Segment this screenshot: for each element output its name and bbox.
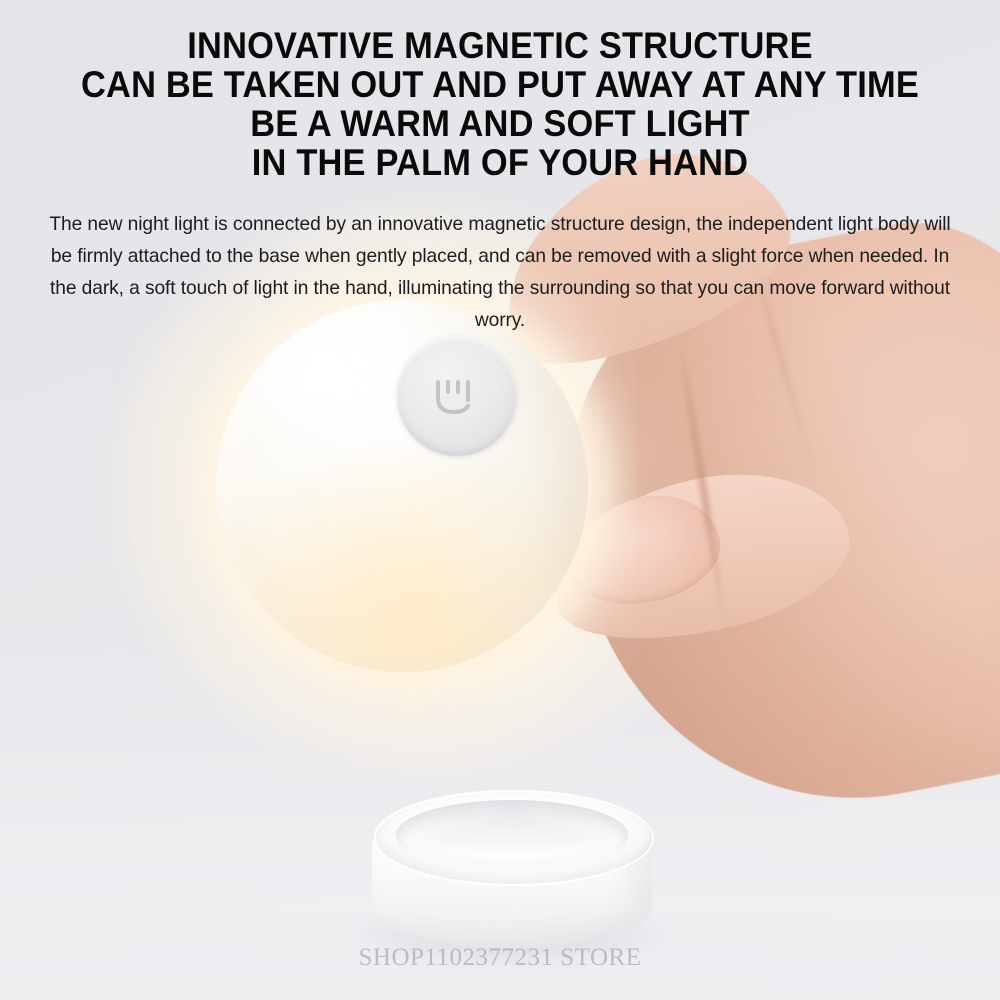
headline-line-4: IN THE PALM OF YOUR HAND xyxy=(35,143,965,182)
headline-line-2: CAN BE TAKEN OUT AND PUT AWAY AT ANY TIM… xyxy=(35,65,965,104)
headline-line-1: INNOVATIVE MAGNETIC STRUCTURE xyxy=(35,26,965,65)
base-rim xyxy=(374,790,654,886)
description-paragraph: The new night light is connected by an i… xyxy=(43,208,957,336)
mijia-logo-icon xyxy=(434,378,478,418)
store-watermark: SHOP1102377231 STORE xyxy=(0,944,1000,972)
sphere-highlight xyxy=(262,330,412,440)
headline-line-3: BE A WARM AND SOFT LIGHT xyxy=(35,104,965,143)
product-marketing-image: INNOVATIVE MAGNETIC STRUCTURE CAN BE TAK… xyxy=(0,0,1000,1000)
headline: INNOVATIVE MAGNETIC STRUCTURE CAN BE TAK… xyxy=(35,26,965,182)
